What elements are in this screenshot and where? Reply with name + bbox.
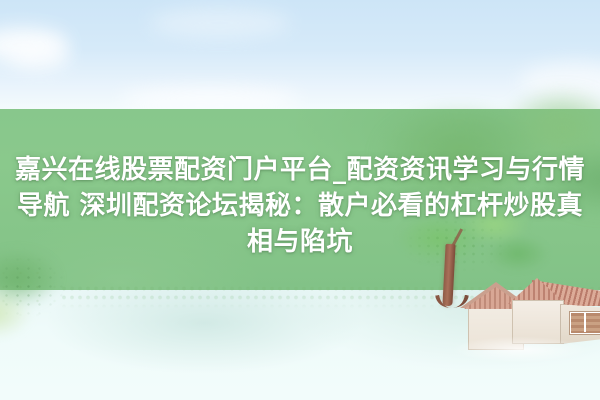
banner-image: 嘉兴在线股票配资门户平台_配资资讯学习与行情导航 深圳配资论坛揭秘：散户必看的杠… [0,0,600,400]
house-front-gable-wall [512,300,564,344]
cloud-icon [120,88,300,110]
house-icon [458,274,600,360]
sky-background [0,0,600,110]
cloud-icon [520,62,600,102]
house-front [502,278,600,352]
house-window-mullion [584,312,586,332]
cloud-icon [150,8,290,38]
cloud-icon [10,44,70,70]
